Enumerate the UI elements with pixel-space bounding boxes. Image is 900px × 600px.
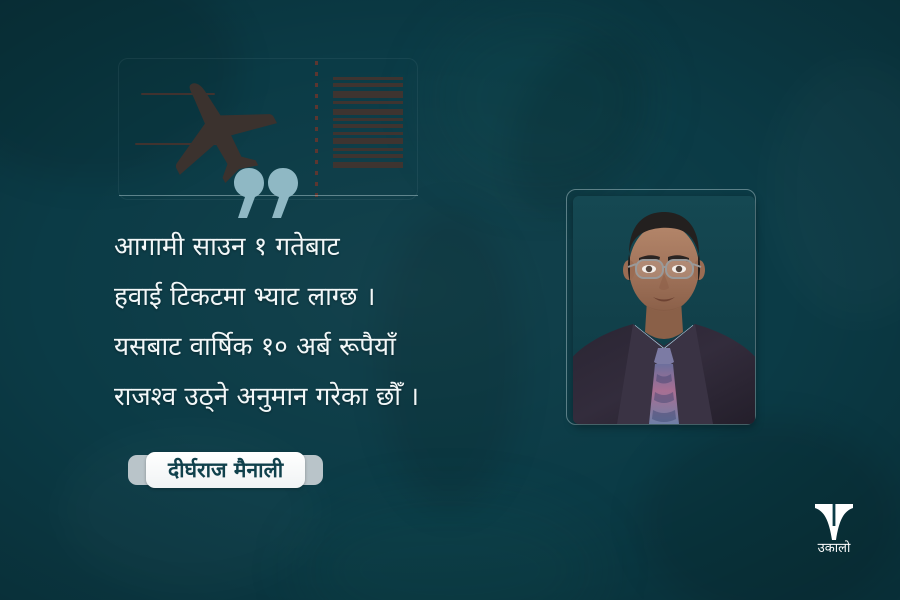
brand-logo[interactable]: उकालो	[806, 504, 862, 560]
bg-texture-blob	[300, 500, 600, 600]
badge-pill: दीर्घराज मैनाली	[146, 452, 305, 488]
perforation-line	[315, 61, 318, 199]
bg-texture-blob	[770, 60, 900, 320]
barcode-icon	[333, 77, 403, 183]
bg-texture-blob	[430, 10, 650, 190]
attribution-badge: दीर्घराज मैनाली	[128, 452, 323, 488]
brand-logo-text: उकालो	[818, 542, 851, 555]
quotation-mark-icon	[233, 168, 299, 218]
quote-card: आगामी साउन १ गतेबाट हवाई टिकटमा भ्याट ला…	[0, 0, 900, 600]
ukalo-road-logo-icon	[812, 504, 856, 540]
speaker-name: दीर्घराज मैनाली	[168, 460, 283, 481]
quote-text: आगामी साउन १ गतेबाट हवाई टिकटमा भ्याट ला…	[114, 222, 554, 422]
portrait-photo	[573, 196, 755, 424]
